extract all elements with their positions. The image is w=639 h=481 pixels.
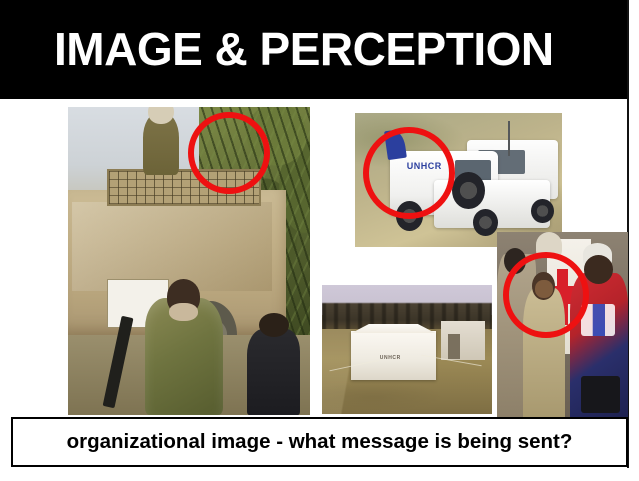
relief-tent-scene: UNHCR	[322, 285, 492, 414]
red-circle-annotation	[188, 112, 270, 194]
soldier-figure	[145, 298, 222, 415]
bag-object	[581, 376, 620, 413]
caption-box: organizational image - what message is b…	[11, 417, 628, 467]
relief-tent-photo: UNHCR	[322, 285, 492, 414]
unhcr-vehicles-photo: UNHCR	[355, 113, 562, 247]
red-circle-annotation	[503, 252, 589, 338]
civilian-figure	[247, 329, 300, 415]
radio-antenna	[508, 121, 510, 156]
vehicle-tyre	[473, 209, 498, 236]
tent-marking-text: UNHCR	[380, 355, 401, 361]
slide-canvas: IMAGE & PERCEPTION UNHCR	[0, 0, 639, 481]
red-cross-crowd-photo	[497, 232, 628, 417]
vehicle-tyre	[531, 199, 554, 223]
military-vehicle-photo	[68, 107, 310, 415]
page-title: IMAGE & PERCEPTION	[54, 20, 554, 78]
red-circle-annotation	[363, 127, 455, 219]
field-hut	[441, 321, 485, 360]
gunner-figure	[143, 113, 179, 175]
title-band: IMAGE & PERCEPTION	[0, 0, 628, 99]
caption-text: organizational image - what message is b…	[67, 430, 573, 454]
